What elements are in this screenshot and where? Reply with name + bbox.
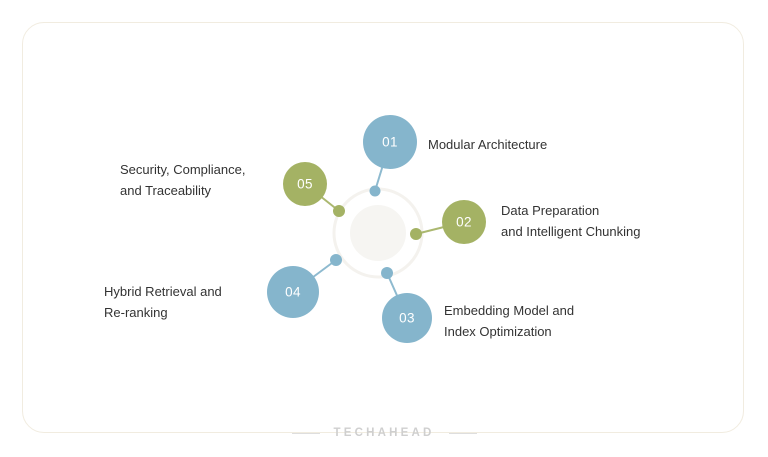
node-caption-01: Modular Architecture xyxy=(428,134,547,155)
caption-line: Index Optimization xyxy=(444,321,574,342)
screenshot-root: 0102030405 Modular ArchitectureData Prep… xyxy=(0,0,768,457)
node-caption-05: Security, Compliance,and Traceability xyxy=(120,159,245,201)
node-circle-02[interactable] xyxy=(442,200,486,244)
connector-dot-01 xyxy=(370,186,381,197)
hub-and-spoke-diagram xyxy=(0,0,768,457)
caption-line: Hybrid Retrieval and xyxy=(104,281,222,302)
hub-inner-disc xyxy=(350,205,406,261)
caption-line: Modular Architecture xyxy=(428,134,547,155)
caption-line: Embedding Model and xyxy=(444,300,574,321)
connector-dot-04 xyxy=(330,254,342,266)
brand-rule-right xyxy=(449,433,477,434)
caption-line: Security, Compliance, xyxy=(120,159,245,180)
caption-line: and Intelligent Chunking xyxy=(501,221,641,242)
brand-rule-left xyxy=(292,433,320,434)
connector-dot-02 xyxy=(410,228,422,240)
node-circle-05[interactable] xyxy=(283,162,327,206)
caption-line: Re-ranking xyxy=(104,302,222,323)
caption-line: Data Preparation xyxy=(501,200,641,221)
brand-footer: TECHAHEAD xyxy=(0,427,768,439)
node-caption-04: Hybrid Retrieval andRe-ranking xyxy=(104,281,222,323)
brand-wordmark: TECHAHEAD xyxy=(334,427,435,439)
connector-dot-03 xyxy=(381,267,393,279)
node-caption-03: Embedding Model andIndex Optimization xyxy=(444,300,574,342)
node-circle-04[interactable] xyxy=(267,266,319,318)
node-caption-02: Data Preparationand Intelligent Chunking xyxy=(501,200,641,242)
caption-line: and Traceability xyxy=(120,180,245,201)
node-circle-03[interactable] xyxy=(382,293,432,343)
connector-dot-05 xyxy=(333,205,345,217)
node-circle-01[interactable] xyxy=(363,115,417,169)
